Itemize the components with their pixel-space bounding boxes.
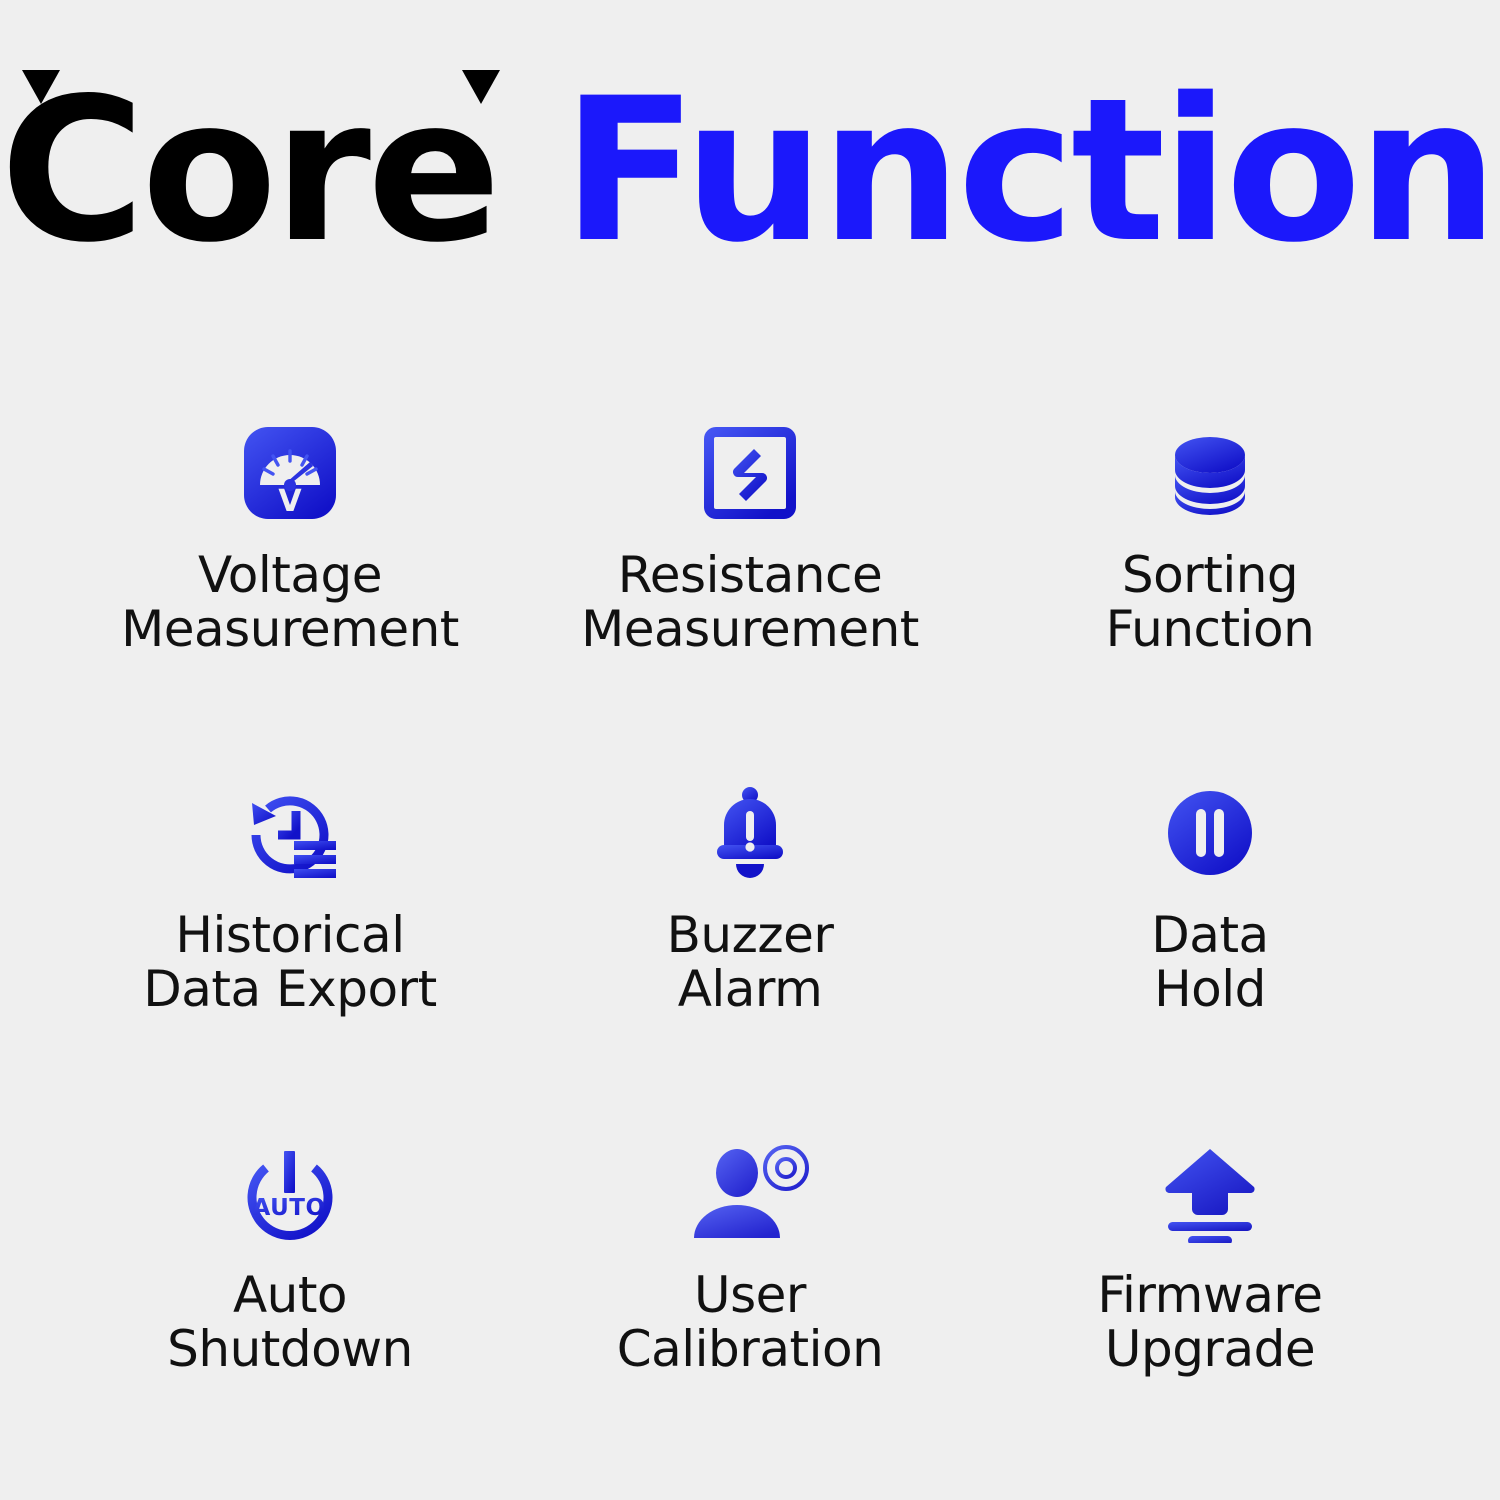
- feature-label: Data Hold: [1151, 908, 1268, 1016]
- svg-text:AUTO: AUTO: [252, 1195, 325, 1221]
- feature-label: Historical Data Export: [143, 908, 436, 1016]
- feature-label: Buzzer Alarm: [667, 908, 834, 1016]
- page-title-accent: Functions: [497, 55, 1500, 286]
- page-title-primary: Core: [0, 55, 497, 286]
- page-title: Core Functions: [0, 60, 1500, 282]
- feature-card-auto-shutdown[interactable]: AUTO Auto Shutdown: [60, 1120, 520, 1480]
- feature-card-firmware-upgrade[interactable]: Firmware Upgrade: [980, 1120, 1440, 1480]
- bell-alert-icon: [685, 778, 815, 888]
- triangle-down-icon: [462, 70, 500, 104]
- feature-label: Firmware Upgrade: [1097, 1268, 1322, 1376]
- upload-arrow-icon: [1145, 1138, 1275, 1248]
- feature-label: Sorting Function: [1106, 548, 1315, 656]
- lightning-bolt-square-icon: [685, 418, 815, 528]
- svg-text:V: V: [278, 484, 302, 519]
- core-functions-page: Core Functions: [0, 0, 1500, 1500]
- user-target-icon: [685, 1138, 815, 1248]
- clock-history-list-icon: [225, 778, 355, 888]
- feature-label: Resistance Measurement: [581, 548, 919, 656]
- feature-grid: V Voltage Measurement Re: [60, 400, 1440, 1480]
- feature-card-data-hold[interactable]: Data Hold: [980, 760, 1440, 1120]
- feature-card-resistance-measurement[interactable]: Resistance Measurement: [520, 400, 980, 760]
- feature-label: User Calibration: [617, 1268, 884, 1376]
- database-stack-icon: [1145, 418, 1275, 528]
- voltage-gauge-icon: V: [225, 418, 355, 528]
- feature-card-buzzer-alarm[interactable]: Buzzer Alarm: [520, 760, 980, 1120]
- feature-card-sorting-function[interactable]: Sorting Function: [980, 400, 1440, 760]
- feature-label: Voltage Measurement: [121, 548, 459, 656]
- power-auto-icon: AUTO: [225, 1138, 355, 1248]
- triangle-down-icon: [22, 70, 60, 104]
- page-title-block: Core Functions: [0, 60, 1500, 282]
- feature-card-user-calibration[interactable]: User Calibration: [520, 1120, 980, 1480]
- feature-card-voltage-measurement[interactable]: V Voltage Measurement: [60, 400, 520, 760]
- feature-card-historical-data-export[interactable]: Historical Data Export: [60, 760, 520, 1120]
- pause-circle-icon: [1145, 778, 1275, 888]
- feature-label: Auto Shutdown: [167, 1268, 413, 1376]
